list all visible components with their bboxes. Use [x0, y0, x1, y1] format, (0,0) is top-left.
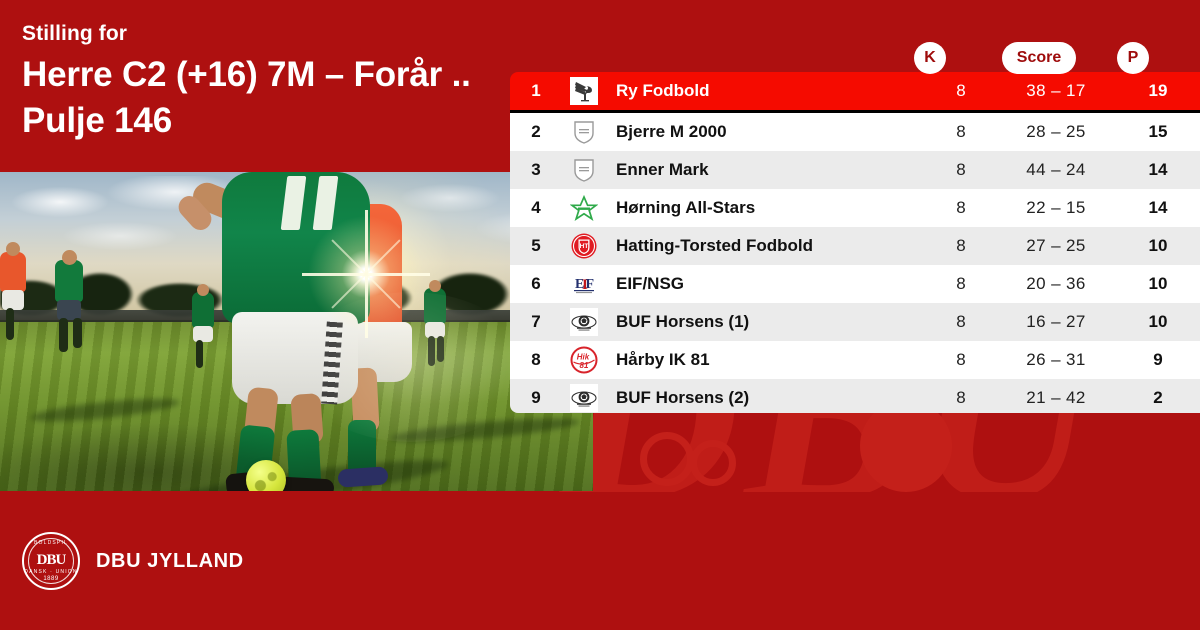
- row-points: 14: [1116, 160, 1200, 180]
- row-team-name: BUF Horsens (2): [606, 388, 926, 408]
- standings-table: 1 Ry Fodbold 8 38 – 17 19: [510, 72, 1200, 413]
- column-header-badges: K Score P: [0, 0, 1200, 72]
- row-score: 27 – 25: [996, 236, 1116, 256]
- photo-main-player-boot-right: [278, 477, 335, 491]
- table-row[interactable]: 1 Ry Fodbold 8 38 – 17 19: [510, 72, 1200, 113]
- seal-arc-top: BOLDSPIL: [24, 540, 78, 546]
- row-matches: 8: [926, 350, 996, 370]
- row-team-name: BUF Horsens (1): [606, 312, 926, 332]
- watermark-shape-circle: [860, 400, 952, 492]
- watermark-shape-ring-a: [640, 432, 694, 486]
- dbu-seal-logo: BOLDSPIL DBU DANSK · UNION 1889: [22, 532, 80, 590]
- buf-horsens-logo: [562, 308, 606, 336]
- row-matches: 8: [926, 122, 996, 142]
- row-score: 44 – 24: [996, 160, 1116, 180]
- row-team-name: Hatting-Torsted Fodbold: [606, 236, 926, 256]
- row-matches: 8: [926, 274, 996, 294]
- page-title-line-2: Pulje 146: [22, 98, 542, 144]
- row-position: 8: [510, 350, 562, 370]
- watermark-shape-ring-b: [690, 440, 736, 486]
- row-position: 5: [510, 236, 562, 256]
- horning-all-stars-logo: [562, 194, 606, 222]
- row-points: 10: [1116, 236, 1200, 256]
- row-points: 15: [1116, 122, 1200, 142]
- table-row[interactable]: 2 Bjerre M 2000 8 28 – 25 15: [510, 113, 1200, 151]
- table-row[interactable]: 6 E I F EIF/NSG 8 20 – 36 10: [510, 265, 1200, 303]
- table-row[interactable]: 3 Enner Mark 8 44 – 24 14: [510, 151, 1200, 189]
- row-position: 1: [510, 81, 562, 101]
- ry-fodbold-logo: [562, 77, 606, 105]
- row-team-name: Enner Mark: [606, 160, 926, 180]
- row-position: 7: [510, 312, 562, 332]
- row-matches: 8: [926, 312, 996, 332]
- row-score: 28 – 25: [996, 122, 1116, 142]
- row-matches: 8: [926, 160, 996, 180]
- row-points: 9: [1116, 350, 1200, 370]
- row-score: 26 – 31: [996, 350, 1116, 370]
- bjerre-m-2000-logo: [562, 118, 606, 146]
- row-points: 2: [1116, 388, 1200, 408]
- photo-orange-player-boot: [337, 466, 388, 487]
- harby-ik-81-logo: Hik 81: [562, 346, 606, 374]
- table-row[interactable]: 9 BUF Horsens (2) 8 21 – 42 2: [510, 379, 1200, 413]
- table-row[interactable]: 7 BUF Horsens (1) 8 16 – 27 10: [510, 303, 1200, 341]
- row-team-name: Hørning All-Stars: [606, 198, 926, 218]
- row-team-name: Ry Fodbold: [606, 81, 926, 101]
- row-position: 9: [510, 388, 562, 408]
- row-points: 10: [1116, 274, 1200, 294]
- row-position: 6: [510, 274, 562, 294]
- row-matches: 8: [926, 388, 996, 408]
- table-row[interactable]: 5 HT Hatting-Torsted Fodbold 8 27 – 25 1…: [510, 227, 1200, 265]
- score-column-badge: Score: [1002, 42, 1076, 74]
- row-position: 2: [510, 122, 562, 142]
- row-matches: 8: [926, 236, 996, 256]
- row-points: 19: [1116, 81, 1200, 101]
- row-score: 16 – 27: [996, 312, 1116, 332]
- seal-arc-bottom: DANSK · UNION: [24, 569, 78, 575]
- row-score: 22 – 15: [996, 198, 1116, 218]
- row-team-name: Hårby IK 81: [606, 350, 926, 370]
- row-team-name: EIF/NSG: [606, 274, 926, 294]
- row-points: 10: [1116, 312, 1200, 332]
- row-position: 4: [510, 198, 562, 218]
- table-row[interactable]: 8 Hik 81 Hårby IK 81 8 26 – 31 9: [510, 341, 1200, 379]
- photo-sun-flare-diagonal: [318, 226, 414, 322]
- row-matches: 8: [926, 198, 996, 218]
- matches-column-badge: K: [914, 42, 946, 74]
- row-score: 21 – 42: [996, 388, 1116, 408]
- row-points: 14: [1116, 198, 1200, 218]
- points-column-badge: P: [1117, 42, 1149, 74]
- football-match-photo: [0, 172, 593, 491]
- hatting-torsted-logo: HT: [562, 232, 606, 260]
- row-score: 38 – 17: [996, 81, 1116, 101]
- dbu-wordmark: DBU JYLLAND: [96, 550, 244, 573]
- row-team-name: Bjerre M 2000: [606, 122, 926, 142]
- eif-nsg-logo: E I F: [562, 270, 606, 298]
- row-score: 20 – 36: [996, 274, 1116, 294]
- enner-mark-logo: [562, 156, 606, 184]
- page-footer: BOLDSPIL DBU DANSK · UNION 1889 DBU JYLL…: [0, 492, 1200, 630]
- table-row[interactable]: 4 Hørning All-Stars 8 22 – 15 14: [510, 189, 1200, 227]
- seal-year: 1889: [24, 576, 78, 582]
- svg-text:81: 81: [580, 361, 589, 370]
- row-matches: 8: [926, 81, 996, 101]
- buf-horsens-logo: [562, 384, 606, 412]
- svg-text:HT: HT: [580, 243, 589, 250]
- svg-text:F: F: [586, 277, 595, 292]
- row-position: 3: [510, 160, 562, 180]
- seal-monogram: DBU: [24, 552, 78, 569]
